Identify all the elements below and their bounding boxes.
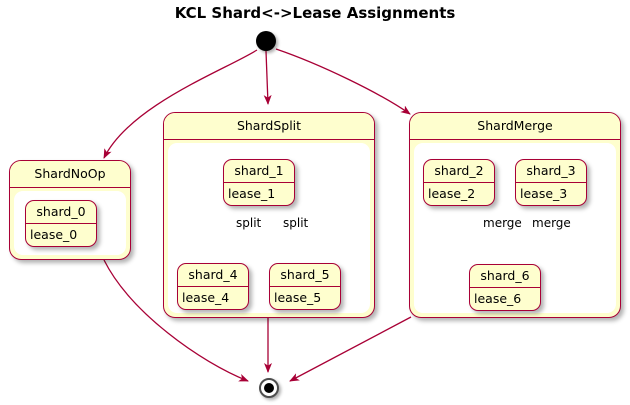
edge-start-to-shardmerge — [276, 49, 410, 114]
diagram-title: KCL Shard<->Lease Assignments — [0, 4, 630, 22]
state-shard-6-lease: lease_6 — [470, 288, 540, 310]
final-state-node — [259, 378, 279, 398]
edge-shardmerge-to-end — [290, 317, 411, 381]
state-shard-5-lease: lease_5 — [270, 287, 340, 309]
state-shard-2[interactable]: shard_2 lease_2 — [423, 159, 495, 206]
composite-state-shardsplit-label: ShardSplit — [164, 113, 374, 140]
state-shard-6[interactable]: shard_6 lease_6 — [469, 264, 541, 311]
composite-state-shardmerge[interactable]: ShardMerge shard_2 lease_2 shard_3 lease… — [409, 112, 621, 318]
state-shard-3-lease: lease_3 — [516, 183, 586, 205]
edge-label-merge-left: merge — [483, 216, 522, 230]
state-shard-4-title: shard_4 — [178, 264, 248, 287]
state-shard-3-title: shard_3 — [516, 160, 586, 183]
state-shard-1-lease: lease_1 — [224, 183, 294, 205]
edge-label-merge-right: merge — [532, 216, 571, 230]
edge-start-to-shardsplit — [266, 51, 268, 104]
state-shard-6-title: shard_6 — [470, 265, 540, 288]
state-shard-5[interactable]: shard_5 lease_5 — [269, 263, 341, 310]
initial-state-node — [256, 31, 276, 51]
edge-label-split-left: split — [236, 216, 261, 230]
state-shard-1-title: shard_1 — [224, 160, 294, 183]
state-diagram: KCL Shard<->Lease Assignments Shard — [0, 0, 630, 405]
state-shard-4[interactable]: shard_4 lease_4 — [177, 263, 249, 310]
state-shard-0-lease: lease_0 — [26, 224, 96, 246]
state-shard-4-lease: lease_4 — [178, 287, 248, 309]
composite-state-shardnoop-body: shard_0 lease_0 — [14, 191, 126, 255]
composite-state-shardsplit-body: shard_1 lease_1 shard_4 lease_4 shard_5 … — [168, 143, 370, 313]
state-shard-0-title: shard_0 — [26, 201, 96, 224]
state-shard-2-lease: lease_2 — [424, 183, 494, 205]
composite-state-shardsplit[interactable]: ShardSplit shard_1 lease_1 shard_4 lease… — [163, 112, 375, 318]
composite-state-shardmerge-label: ShardMerge — [410, 113, 620, 140]
state-shard-5-title: shard_5 — [270, 264, 340, 287]
state-shard-2-title: shard_2 — [424, 160, 494, 183]
edge-label-split-right: split — [283, 216, 308, 230]
state-shard-0[interactable]: shard_0 lease_0 — [25, 200, 97, 247]
state-shard-1[interactable]: shard_1 lease_1 — [223, 159, 295, 206]
composite-state-shardnoop[interactable]: ShardNoOp shard_0 lease_0 — [9, 160, 131, 260]
composite-state-shardnoop-label: ShardNoOp — [10, 161, 130, 188]
state-shard-3[interactable]: shard_3 lease_3 — [515, 159, 587, 206]
